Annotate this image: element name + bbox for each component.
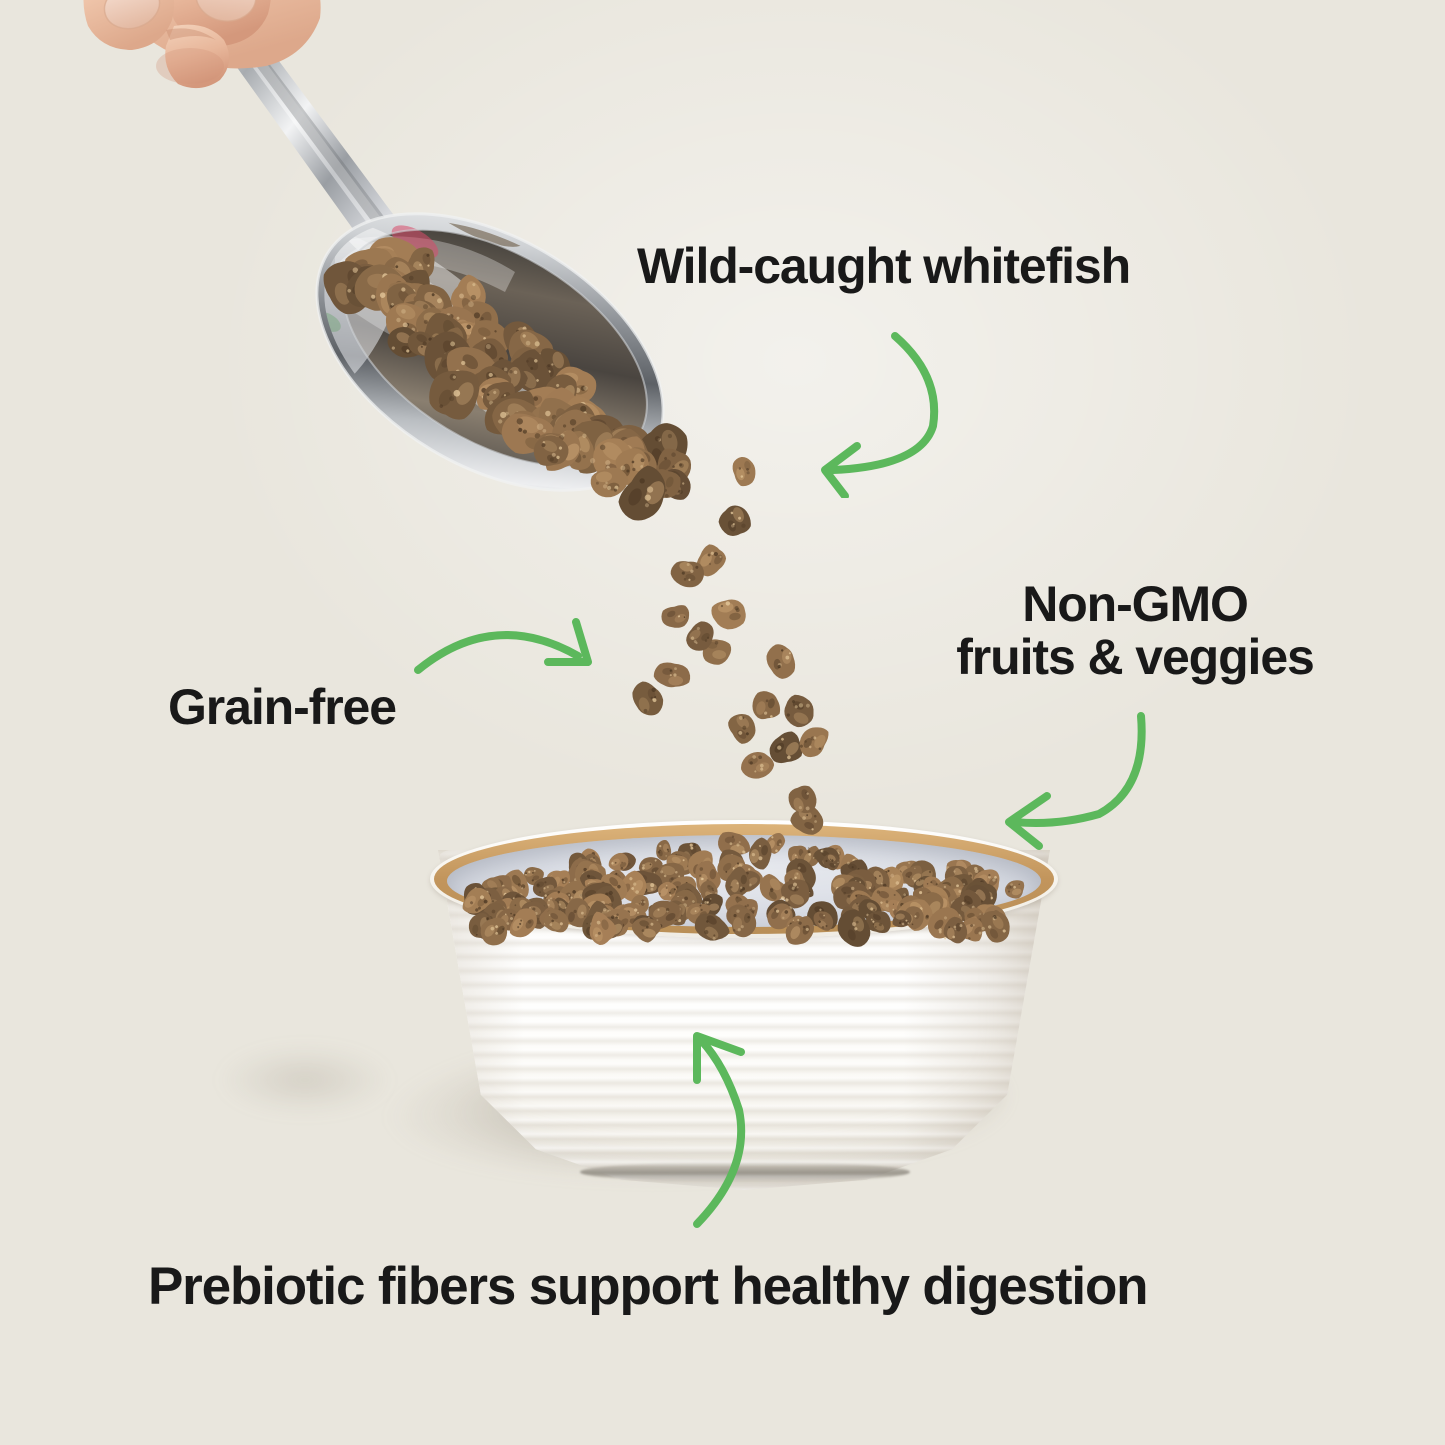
kibble-in-bowl — [455, 806, 1033, 936]
callout-label-grain-free: Grain-free — [168, 681, 396, 734]
callout-label-whitefish: Wild-caught whitefish — [637, 240, 1130, 293]
callout-label-prebiotic: Prebiotic fibers support healthy digesti… — [148, 1259, 1147, 1315]
hand-holding-spoon — [70, 0, 400, 240]
callout-arrow-grain-free — [398, 598, 618, 710]
bowl-base-edge — [580, 1162, 910, 1182]
callout-arrow-whitefish — [775, 318, 975, 498]
product-image-canvas: Wild-caught whitefish Non-GMO fruits & v… — [0, 0, 1445, 1445]
callout-label-non-gmo: Non-GMO fruits & veggies — [920, 578, 1350, 684]
ceramic-bowl — [430, 798, 1058, 1193]
